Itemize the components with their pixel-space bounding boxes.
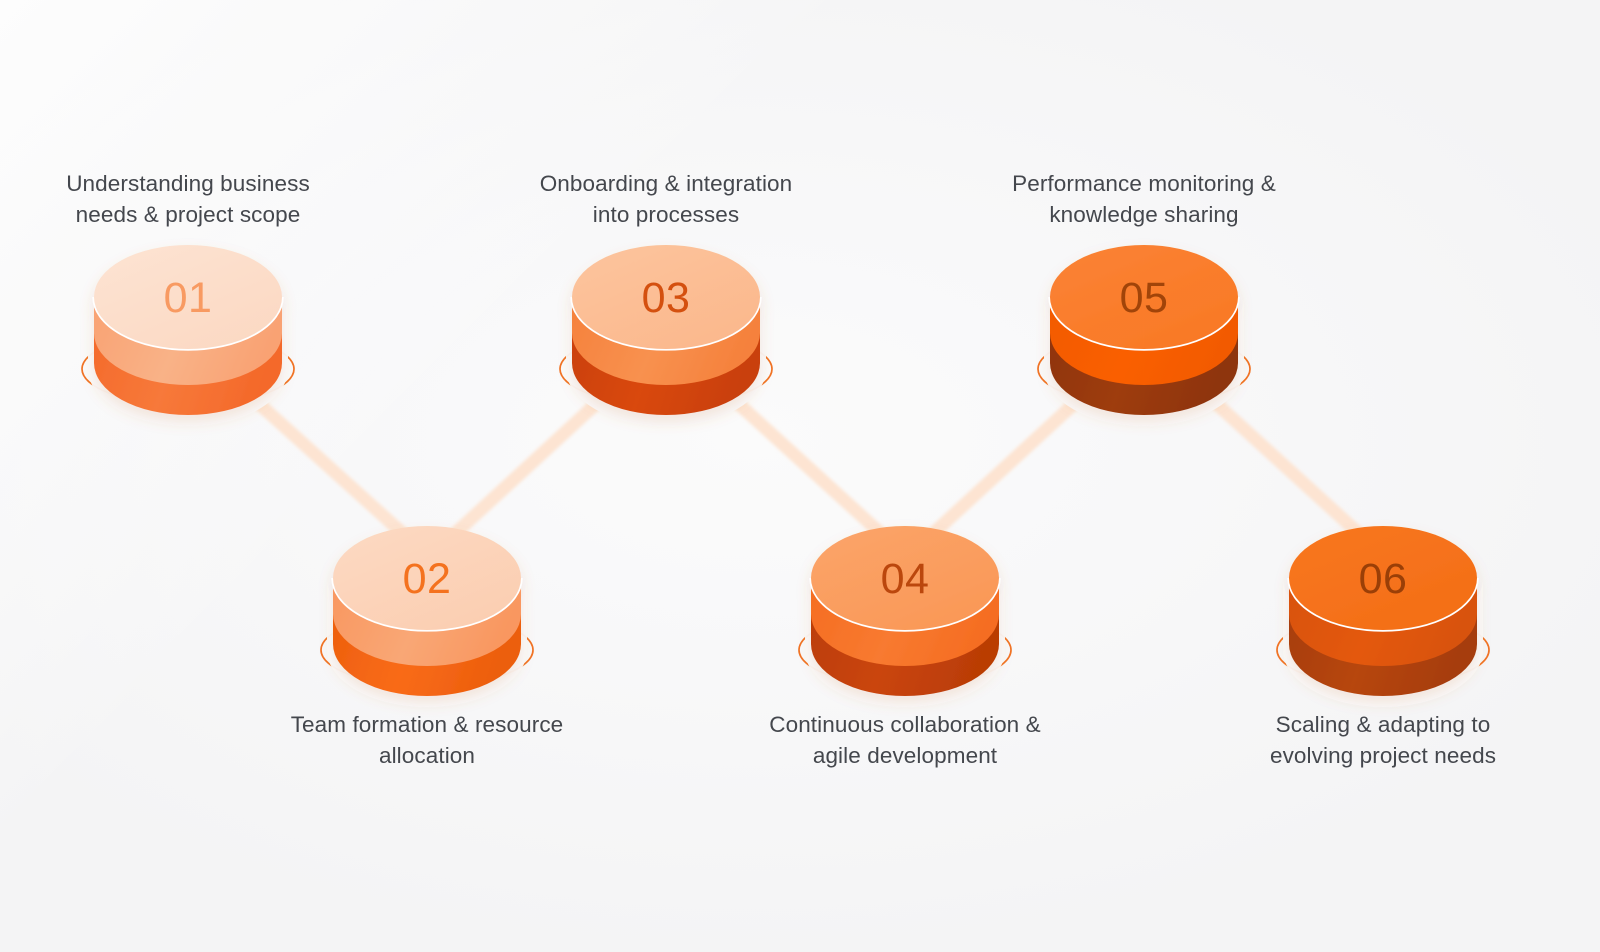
step-number-05: 05 xyxy=(1120,274,1169,322)
step-puck-05[interactable]: 05 xyxy=(1038,245,1250,426)
diagram-scene: 010203040506 xyxy=(0,0,1600,952)
step-number-01: 01 xyxy=(164,274,213,322)
step-puck-04[interactable]: 04 xyxy=(799,526,1011,707)
step-puck-03[interactable]: 03 xyxy=(560,245,772,426)
puck-layer: 010203040506 xyxy=(82,245,1489,707)
step-number-06: 06 xyxy=(1359,555,1408,603)
step-label-05: Performance monitoring & knowledge shari… xyxy=(944,168,1344,230)
step-number-03: 03 xyxy=(642,274,691,322)
step-number-04: 04 xyxy=(881,555,930,603)
step-puck-02[interactable]: 02 xyxy=(321,526,533,707)
step-label-04: Continuous collaboration & agile develop… xyxy=(705,709,1105,771)
step-puck-01[interactable]: 01 xyxy=(82,245,294,426)
step-puck-06[interactable]: 06 xyxy=(1277,526,1489,707)
step-label-06: Scaling & adapting to evolving project n… xyxy=(1183,709,1583,771)
step-number-02: 02 xyxy=(403,555,452,603)
step-label-03: Onboarding & integration into processes xyxy=(466,168,866,230)
step-label-01: Understanding business needs & project s… xyxy=(0,168,388,230)
step-label-02: Team formation & resource allocation xyxy=(227,709,627,771)
infographic-canvas: 010203040506 Understanding business need… xyxy=(0,0,1600,952)
